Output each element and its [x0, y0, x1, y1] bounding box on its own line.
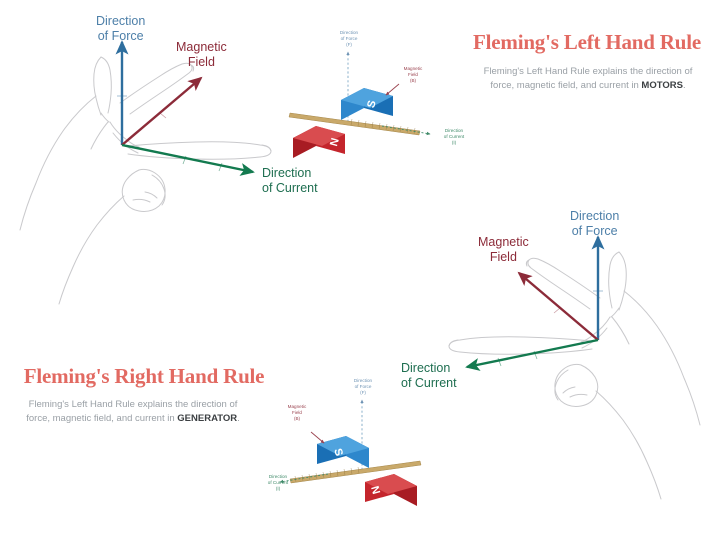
south-magnet-bottom: S: [317, 436, 369, 468]
left-hand-current-label: Direction of Current: [262, 166, 318, 196]
top-magnet-field-label: Magnetic Field (B): [395, 66, 431, 84]
left-hand-rule-title: Fleming's Left Hand Rule: [467, 30, 707, 55]
bottom-magnet-force-label: Direction of Force (F): [341, 378, 385, 396]
right-hand-outline: [449, 252, 700, 499]
right-hand-rule-emphasis: GENERATOR: [177, 413, 237, 424]
top-magnet-current-label: Direction of Current (I): [432, 128, 476, 146]
field-arrow-top: [386, 84, 399, 95]
right-hand-field-label: Magnetic Field: [478, 235, 529, 265]
right-hand-rule-description: Fleming's Left Hand Rule explains the di…: [22, 398, 244, 426]
right-hand-current-label: Direction of Current: [401, 361, 457, 391]
left-hand-rule-emphasis: MOTORS: [641, 80, 683, 91]
north-magnet-bottom: N: [365, 474, 417, 506]
left-hand-field-label: Magnetic Field: [176, 40, 227, 70]
infographic-canvas: S N: [0, 0, 720, 539]
top-magnet-force-label: Direction of Force (F): [327, 30, 371, 48]
field-arrow-bottom: [311, 432, 324, 443]
bottom-magnet-field-label: Magnetic Field (B): [279, 404, 315, 422]
right-hand-rule-title: Fleming's Right Hand Rule: [13, 364, 275, 389]
left-hand-rule-description: Fleming's Left Hand Rule explains the di…: [477, 65, 699, 93]
south-magnet-top: S: [341, 88, 393, 120]
left-hand-outline: [20, 57, 271, 304]
right-hand-force-label: Direction of Force: [570, 209, 619, 239]
left-hand-force-label: Direction of Force: [96, 14, 145, 44]
bottom-magnet-current-label: Direction of Current (I): [256, 474, 300, 492]
north-magnet-top: N: [293, 126, 345, 158]
